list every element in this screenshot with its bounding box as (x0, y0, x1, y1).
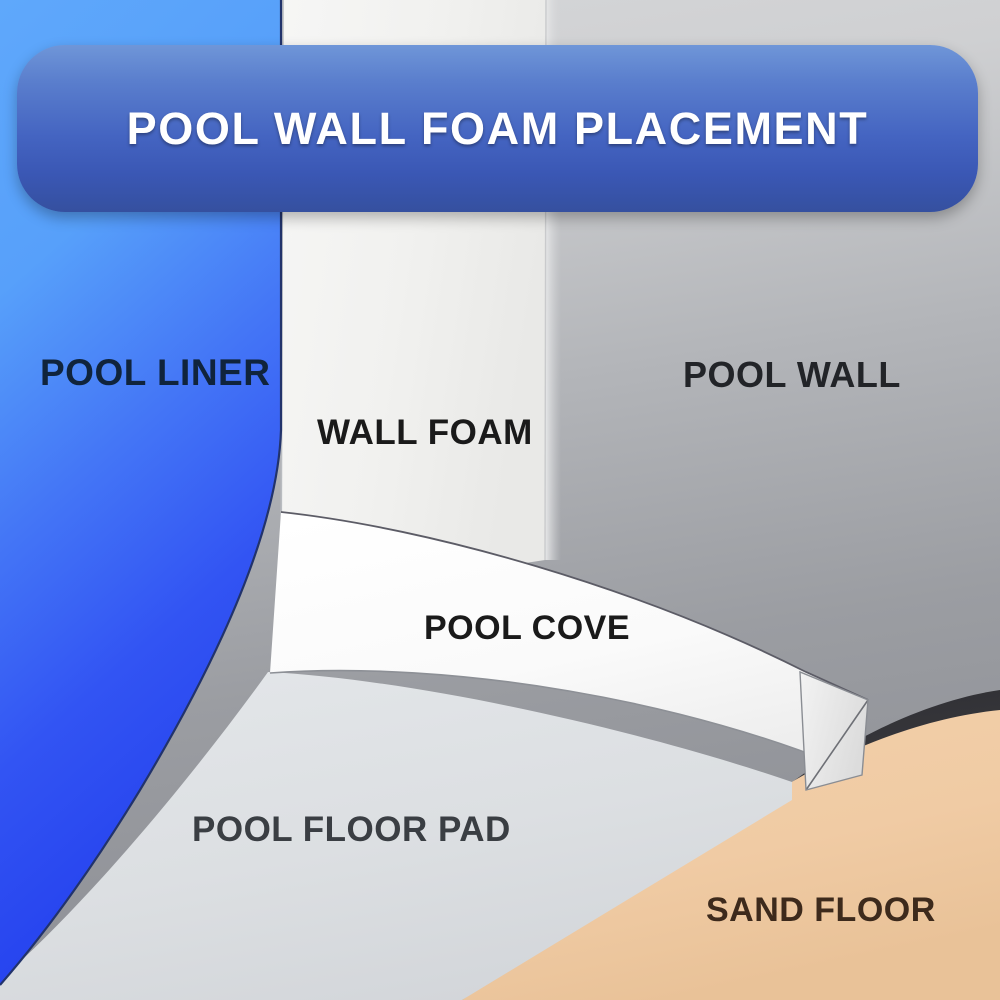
diagram-canvas: POOL WALL FOAM PLACEMENT POOL LINER WALL… (0, 0, 1000, 1000)
label-pool-floor-pad: POOL FLOOR PAD (192, 812, 511, 847)
label-sand-floor: SAND FLOOR (706, 893, 936, 927)
label-pool-wall: POOL WALL (683, 357, 901, 393)
label-pool-cove: POOL COVE (424, 611, 630, 645)
label-wall-foam: WALL FOAM (317, 415, 533, 450)
label-pool-liner: POOL LINER (40, 354, 270, 391)
page-title: POOL WALL FOAM PLACEMENT (127, 106, 869, 151)
title-banner: POOL WALL FOAM PLACEMENT (17, 45, 978, 212)
